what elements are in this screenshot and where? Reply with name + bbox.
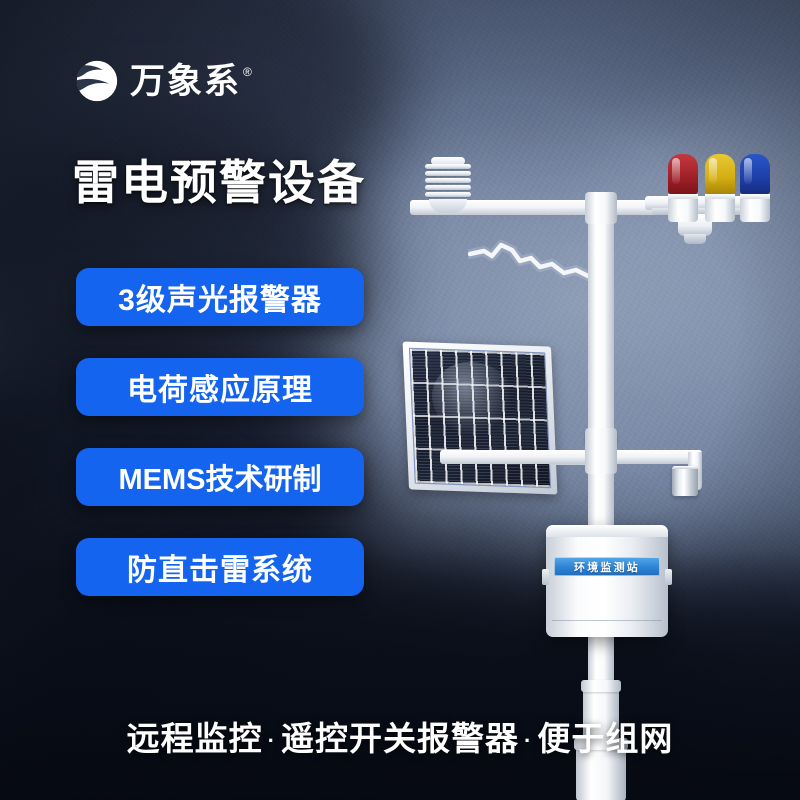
feature-pill-label: 防直击雷系统 (127, 545, 313, 589)
registered-mark: ® (243, 66, 252, 78)
upper-arm-hub (585, 192, 617, 224)
tagline-part-2: 遥控开关报警器 (281, 720, 519, 757)
product-poster: 环境监测站 万象系 ® 雷电预警设备 3级声光报警器 (0, 0, 800, 800)
feature-pill-1[interactable]: 3级声光报警器 (76, 268, 364, 326)
tagline-separator: · (268, 728, 276, 753)
feature-pill-4[interactable]: 防直击雷系统 (76, 538, 364, 596)
tagline-part-3: 便于组网 (537, 720, 673, 757)
red-alarm-lamp (668, 154, 698, 222)
tagline-separator: · (524, 728, 532, 753)
lower-cross-arm (440, 450, 702, 464)
cabinet-badge-label: 环境监测站 (574, 559, 640, 575)
siren-horn-mouth (684, 234, 706, 244)
feature-pill-list: 3级声光报警器 电荷感应原理 MEMS技术研制 防直击雷系统 (76, 268, 364, 596)
solar-panel (403, 341, 558, 494)
yellow-alarm-lamp (705, 154, 735, 222)
mast-collar (581, 680, 621, 692)
tagline: 远程监控·遥控开关报警器·便于组网 (0, 712, 800, 760)
cabinet-latch (542, 569, 549, 585)
feature-pill-label: MEMS技术研制 (118, 456, 321, 498)
brand-logo: 万象系 ® (74, 58, 252, 104)
feature-pill-3[interactable]: MEMS技术研制 (76, 448, 364, 506)
brand-wordmark: 万象系 ® (130, 64, 252, 99)
mast-upper-segment (588, 196, 614, 436)
cabinet-lid (546, 525, 668, 537)
radiation-shield-sensor (425, 162, 471, 206)
cabinet-latch (665, 569, 672, 585)
feature-pill-label: 电荷感应原理 (127, 365, 313, 409)
lightning-field-sensor (672, 466, 698, 496)
feature-pill-2[interactable]: 电荷感应原理 (76, 358, 364, 416)
brand-name: 万象系 (130, 64, 241, 99)
tagline-part-1: 远程监控 (127, 720, 263, 757)
lightning-bolt-icon (468, 236, 603, 288)
lower-arm-hub (585, 428, 617, 474)
cabinet-seam (552, 620, 662, 621)
blue-alarm-lamp (740, 154, 770, 222)
cabinet-badge: 环境监测站 (554, 557, 660, 576)
swoosh-circle-logo-icon (74, 58, 120, 104)
page-title: 雷电预警设备 (72, 158, 366, 209)
feature-pill-label: 3级声光报警器 (118, 275, 322, 319)
control-cabinet: 环境监测站 (546, 525, 668, 637)
